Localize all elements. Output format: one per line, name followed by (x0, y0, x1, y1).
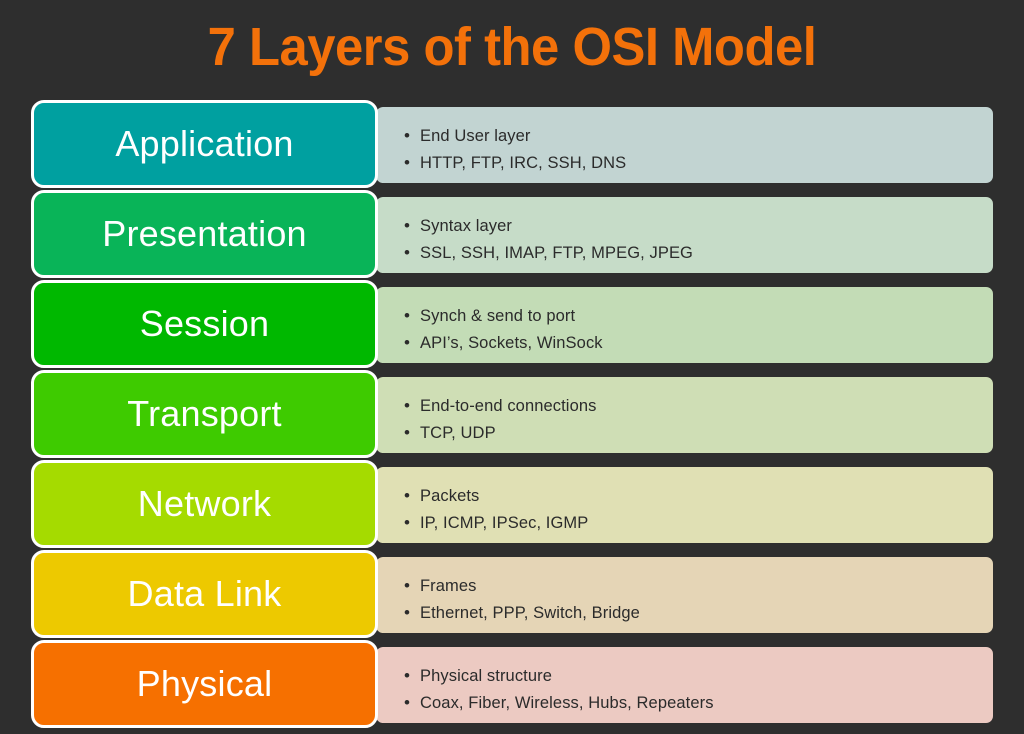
layer-bullet-item: •Physical structure (404, 665, 993, 687)
layer-description-panel: •Physical structure•Coax, Fiber, Wireles… (376, 647, 993, 723)
layer-bullet-text: End-to-end connections (420, 396, 596, 417)
layer-name-label: Presentation (102, 214, 307, 254)
bullet-icon: • (404, 332, 420, 353)
osi-model-diagram: 7 Layers of the OSI Model •End User laye… (0, 0, 1024, 734)
layer-bullet-item: •IP, ICMP, IPSec, IGMP (404, 512, 993, 534)
bullet-icon: • (404, 602, 420, 623)
layer-description-panel: •End-to-end connections•TCP, UDP (376, 377, 993, 453)
layer-bullet-item: •SSL, SSH, IMAP, FTP, MPEG, JPEG (404, 242, 993, 264)
layer-row: •Physical structure•Coax, Fiber, Wireles… (0, 640, 1024, 730)
layer-bullet-item: •Packets (404, 485, 993, 507)
layer-description-panel: •End User layer•HTTP, FTP, IRC, SSH, DNS (376, 107, 993, 183)
layer-bullet-text: End User layer (420, 126, 531, 147)
layer-name-label: Transport (127, 394, 282, 434)
layer-bullet-item: •Frames (404, 575, 993, 597)
layer-bullet-item: •End-to-end connections (404, 395, 993, 417)
layer-row: •Frames•Ethernet, PPP, Switch, BridgeDat… (0, 550, 1024, 640)
layer-bullet-item: •Syntax layer (404, 215, 993, 237)
bullet-icon: • (404, 305, 420, 326)
layer-bullet-text: Synch & send to port (420, 306, 575, 327)
bullet-icon: • (404, 485, 420, 506)
layer-description-panel: •Frames•Ethernet, PPP, Switch, Bridge (376, 557, 993, 633)
bullet-icon: • (404, 512, 420, 533)
layer-bullet-text: IP, ICMP, IPSec, IGMP (420, 513, 588, 534)
bullet-icon: • (404, 215, 420, 236)
layer-stack: •End User layer•HTTP, FTP, IRC, SSH, DNS… (0, 100, 1024, 734)
layer-row: •Syntax layer•SSL, SSH, IMAP, FTP, MPEG,… (0, 190, 1024, 280)
layer-bullet-text: Syntax layer (420, 216, 512, 237)
layer-name-label: Network (138, 484, 271, 524)
layer-pill-session[interactable]: Session (31, 280, 378, 368)
layer-bullet-item: •TCP, UDP (404, 422, 993, 444)
layer-description-panel: •Synch & send to port•API’s, Sockets, Wi… (376, 287, 993, 363)
layer-pill-application[interactable]: Application (31, 100, 378, 188)
layer-description-panel: •Syntax layer•SSL, SSH, IMAP, FTP, MPEG,… (376, 197, 993, 273)
bullet-icon: • (404, 152, 420, 173)
layer-row: •End User layer•HTTP, FTP, IRC, SSH, DNS… (0, 100, 1024, 190)
layer-pill-network[interactable]: Network (31, 460, 378, 548)
layer-bullet-text: Ethernet, PPP, Switch, Bridge (420, 603, 640, 624)
layer-bullet-text: SSL, SSH, IMAP, FTP, MPEG, JPEG (420, 243, 693, 264)
bullet-icon: • (404, 242, 420, 263)
layer-bullet-item: •End User layer (404, 125, 993, 147)
layer-row: •Synch & send to port•API’s, Sockets, Wi… (0, 280, 1024, 370)
bullet-icon: • (404, 575, 420, 596)
layer-description-panel: •Packets•IP, ICMP, IPSec, IGMP (376, 467, 993, 543)
layer-name-label: Application (115, 124, 293, 164)
layer-bullet-text: HTTP, FTP, IRC, SSH, DNS (420, 153, 626, 174)
bullet-icon: • (404, 422, 420, 443)
page-title: 7 Layers of the OSI Model (31, 16, 994, 78)
layer-bullet-text: Packets (420, 486, 479, 507)
layer-pill-physical[interactable]: Physical (31, 640, 378, 728)
layer-bullet-text: Coax, Fiber, Wireless, Hubs, Repeaters (420, 693, 714, 714)
layer-bullet-item: •HTTP, FTP, IRC, SSH, DNS (404, 152, 993, 174)
bullet-icon: • (404, 395, 420, 416)
layer-bullet-text: Physical structure (420, 666, 552, 687)
layer-row: •End-to-end connections•TCP, UDPTranspor… (0, 370, 1024, 460)
layer-bullet-text: Frames (420, 576, 477, 597)
layer-name-label: Session (140, 304, 269, 344)
bullet-icon: • (404, 665, 420, 686)
layer-bullet-item: •Synch & send to port (404, 305, 993, 327)
layer-bullet-text: TCP, UDP (420, 423, 496, 444)
layer-pill-data-link[interactable]: Data Link (31, 550, 378, 638)
layer-pill-transport[interactable]: Transport (31, 370, 378, 458)
layer-bullet-text: API’s, Sockets, WinSock (420, 333, 603, 354)
layer-pill-presentation[interactable]: Presentation (31, 190, 378, 278)
bullet-icon: • (404, 692, 420, 713)
layer-name-label: Data Link (128, 574, 282, 614)
layer-bullet-item: •Coax, Fiber, Wireless, Hubs, Repeaters (404, 692, 993, 714)
layer-bullet-item: •API’s, Sockets, WinSock (404, 332, 993, 354)
layer-row: •Packets•IP, ICMP, IPSec, IGMPNetwork (0, 460, 1024, 550)
layer-bullet-item: •Ethernet, PPP, Switch, Bridge (404, 602, 993, 624)
layer-name-label: Physical (137, 664, 273, 704)
bullet-icon: • (404, 125, 420, 146)
